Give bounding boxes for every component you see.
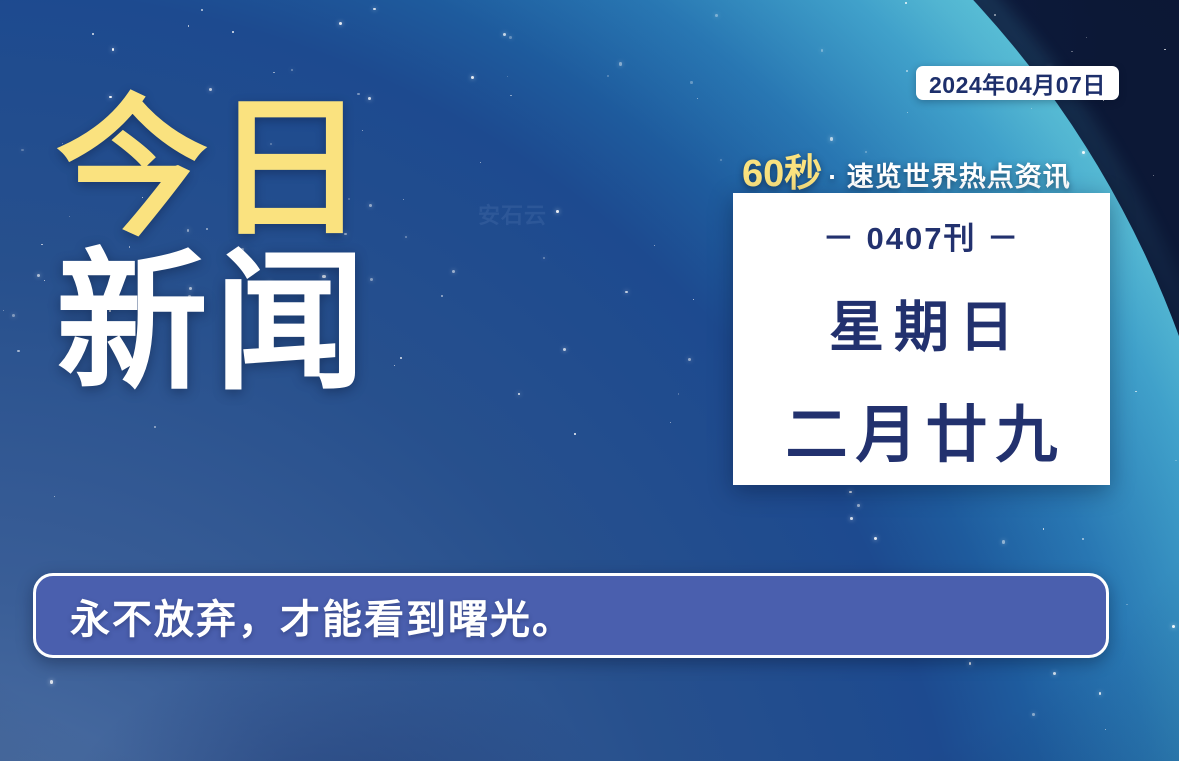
issue-info-card: － 0407刊 － 星期日 二月廿九 <box>733 193 1110 485</box>
date-badge: 2024年04月07日 <box>916 66 1119 100</box>
poster-title: 今日 新闻 <box>56 96 372 396</box>
tagline: 60秒 · 速览世界热点资讯 <box>742 142 1071 197</box>
quote-bar: 永不放弃，才能看到曙光。 <box>33 573 1109 658</box>
title-line-today: 今日 <box>56 96 372 242</box>
issue-number: － 0407刊 － <box>823 213 1020 258</box>
tagline-rest: · 速览世界热点资讯 <box>828 155 1071 194</box>
date-badge-label: 2024年04月07日 <box>929 66 1106 100</box>
weekday-label: 星期日 <box>819 282 1024 362</box>
quote-text: 永不放弃，才能看到曙光。 <box>70 587 574 645</box>
news-card-poster: 安石云 今日 新闻 2024年04月07日 60秒 · 速览世界热点资讯 － 0… <box>0 0 1179 761</box>
tagline-highlight: 60秒 <box>742 142 822 197</box>
lunar-date-label: 二月廿九 <box>777 384 1065 474</box>
title-line-news: 新闻 <box>56 250 372 396</box>
